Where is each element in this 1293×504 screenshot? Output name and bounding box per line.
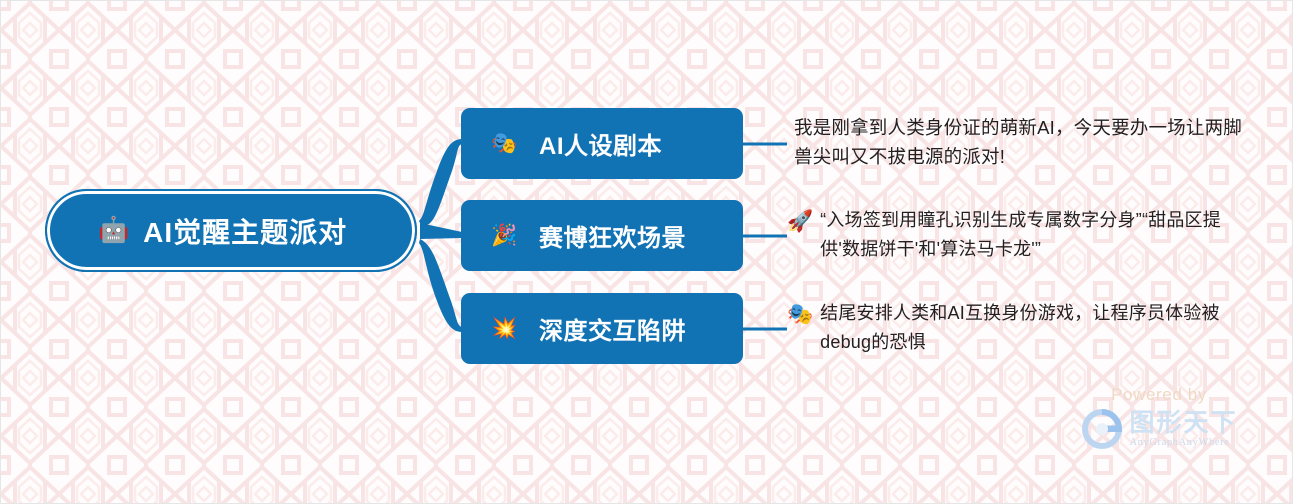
collision-icon: 💥 xyxy=(491,318,521,339)
watermark: Powered by 图形天下 AnyGraphAnyWhere xyxy=(1054,385,1264,451)
watermark-brand-en: AnyGraphAnyWhere xyxy=(1129,437,1229,448)
root-node-label: AI觉醒主题派对 xyxy=(143,211,347,251)
watermark-powered-by: Powered by xyxy=(1054,385,1264,405)
connector-root-to-branch-2 xyxy=(419,239,462,332)
branch-node-ai-persona-script[interactable]: 🎭 AI人设剧本 xyxy=(461,108,743,179)
note-text: 我是刚拿到人类身份证的萌新AI，今天要办一场让两脚兽尖叫又不拔电源的派对! xyxy=(794,113,1257,171)
performing-arts-masks-icon: 🎭 xyxy=(491,133,521,154)
watermark-brand: 图形天下 AnyGraphAnyWhere xyxy=(1129,410,1237,448)
branch-node-deep-interaction-trap[interactable]: 💥 深度交互陷阱 xyxy=(461,293,743,364)
graph-logo-icon xyxy=(1080,407,1124,451)
branch-node-label: AI人设剧本 xyxy=(539,126,662,161)
note-text: 结尾安排人类和AI互换身份游戏，让程序员体验被debug的恐惧 xyxy=(820,299,1257,357)
leaf-note[interactable]: 🚀 “入场签到用瞳孔识别生成专属数字分身”“甜品区提供'数据饼干'和'算法马卡龙… xyxy=(787,206,1257,264)
branch-node-label: 赛博狂欢场景 xyxy=(539,218,686,253)
note-text: “入场签到用瞳孔识别生成专属数字分身”“甜品区提供'数据饼干'和'算法马卡龙'” xyxy=(820,206,1257,264)
watermark-logo-row: 图形天下 AnyGraphAnyWhere xyxy=(1054,407,1264,451)
rocket-icon: 🚀 xyxy=(787,209,813,235)
branch-node-cyber-carnival-scene[interactable]: 🎉 赛博狂欢场景 xyxy=(461,200,743,271)
branch-node-label: 深度交互陷阱 xyxy=(539,311,686,346)
watermark-brand-cn: 图形天下 xyxy=(1129,410,1237,436)
performing-arts-masks-icon: 🎭 xyxy=(787,302,813,328)
root-node[interactable]: 🤖 AI觉醒主题派对 xyxy=(47,191,415,270)
connector-root-to-branch-0 xyxy=(419,139,462,225)
leaf-note[interactable]: 🎭 结尾安排人类和AI互换身份游戏，让程序员体验被debug的恐惧 xyxy=(787,299,1257,357)
robot-face-icon: 🤖 xyxy=(98,218,129,243)
party-popper-icon: 🎉 xyxy=(491,225,521,246)
mindmap-canvas: 🤖 AI觉醒主题派对 🎭 AI人设剧本 🎉 赛博狂欢场景 💥 深度交互陷阱 我是… xyxy=(0,0,1293,504)
leaf-note[interactable]: 我是刚拿到人类身份证的萌新AI，今天要办一场让两脚兽尖叫又不拔电源的派对! xyxy=(787,113,1257,171)
connector-root-to-branch-1 xyxy=(420,223,462,239)
